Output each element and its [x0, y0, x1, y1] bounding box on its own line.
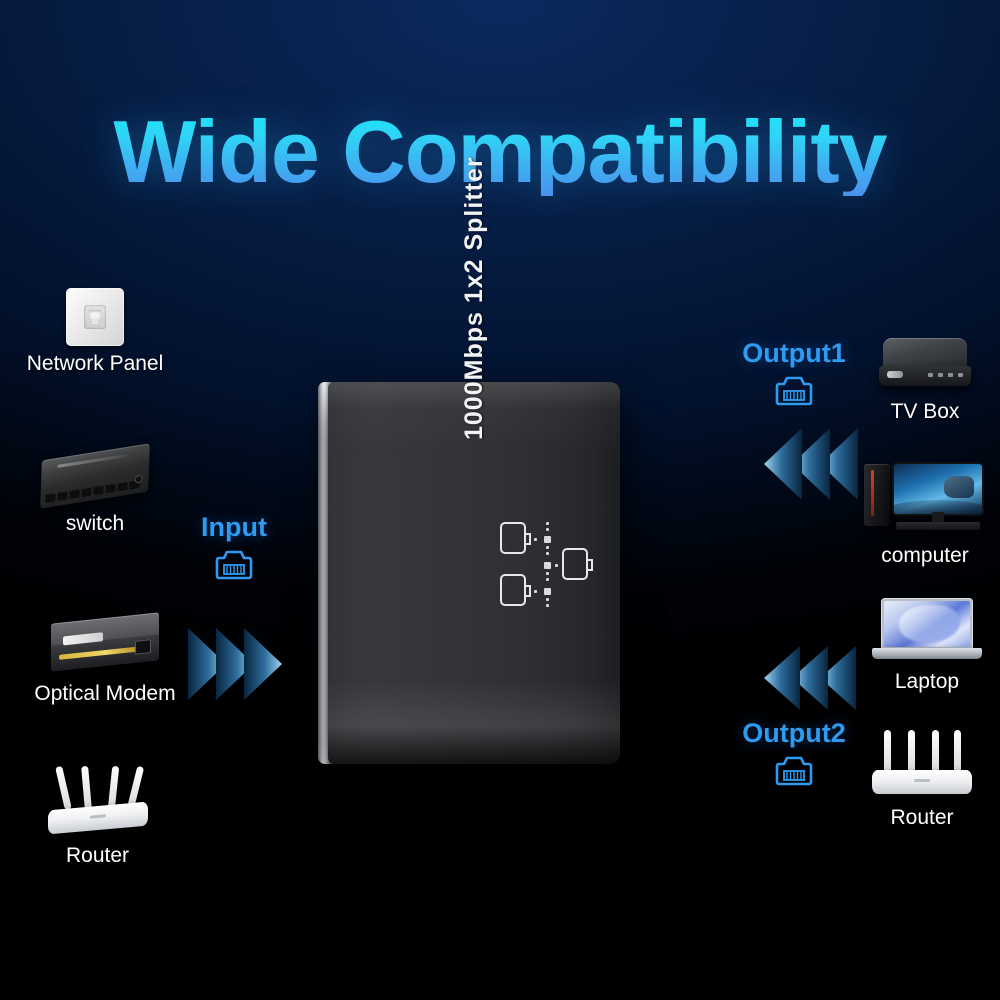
- source-optical-modem: Optical Modem: [20, 618, 190, 706]
- output2-flow-arrows: [748, 638, 858, 718]
- panel-jack-tab: [92, 318, 98, 324]
- input-flow-arrows: [186, 618, 296, 710]
- wifi-router-icon: [38, 758, 158, 834]
- device-body: 1000Mbps 1x2 Splitter: [328, 382, 620, 764]
- desktop-computer-icon: [864, 462, 986, 538]
- network-wall-panel-icon: [66, 288, 124, 346]
- router-antenna: [81, 766, 92, 810]
- rj45-port-icon: [214, 547, 254, 583]
- destination-label-router: Router: [857, 806, 987, 830]
- panel-jack: [84, 305, 106, 329]
- router-antenna: [55, 766, 72, 810]
- source-label-network-panel: Network Panel: [20, 352, 170, 376]
- computer-monitor: [894, 464, 982, 514]
- source-router: Router: [15, 758, 180, 868]
- computer-tower: [864, 464, 890, 526]
- topology-junction: [544, 588, 551, 595]
- laptop-lid: [881, 598, 973, 650]
- output1-flow-arrows: [750, 418, 860, 510]
- network-topology-1-to-2-icon: [500, 522, 600, 622]
- switch-power-jack: [135, 474, 143, 483]
- rj45-port-icon: [774, 373, 814, 409]
- router-body: [872, 770, 972, 794]
- router-body: [48, 802, 148, 835]
- source-label-optical-modem: Optical Modem: [20, 682, 190, 706]
- destination-laptop: Laptop: [862, 598, 992, 694]
- topology-junction: [544, 562, 551, 569]
- tv-box-logo: [887, 371, 903, 378]
- rj45-port-icon: [774, 753, 814, 789]
- destination-label-tv-box: TV Box: [860, 400, 990, 424]
- output2-label-text: Output2: [726, 718, 862, 749]
- destination-tv-box: TV Box: [860, 338, 990, 424]
- device-model-label: 1000Mbps 1x2 Splitter: [460, 170, 489, 440]
- optical-modem-icon: [51, 612, 159, 673]
- laptop-screen: [884, 601, 970, 647]
- destination-label-computer: computer: [855, 544, 995, 568]
- infographic-canvas: Wide Compatibility Network Panel switch: [0, 0, 1000, 1000]
- tv-box-icon: [877, 338, 973, 392]
- source-label-switch: switch: [20, 512, 170, 536]
- topology-node: [500, 522, 526, 554]
- computer-keyboard: [896, 522, 980, 530]
- page-title: Wide Compatibility: [0, 108, 1000, 196]
- modem-port: [135, 639, 151, 655]
- tv-box-leds: [928, 373, 963, 377]
- output1-label-text: Output1: [728, 338, 860, 369]
- wifi-router-icon: [862, 722, 982, 798]
- topology-node: [562, 548, 588, 580]
- ethernet-splitter-device: 1000Mbps 1x2 Splitter: [318, 382, 620, 764]
- source-switch: switch: [20, 452, 170, 536]
- output2-port-label: Output2: [726, 718, 862, 789]
- monitor-stand: [932, 512, 944, 522]
- input-label-text: Input: [170, 512, 298, 543]
- source-network-panel: Network Panel: [20, 288, 170, 376]
- switch-ports: [45, 479, 139, 503]
- destination-router: Router: [857, 722, 987, 830]
- destination-label-laptop: Laptop: [862, 670, 992, 694]
- laptop-icon: [872, 598, 982, 668]
- router-led: [914, 779, 930, 782]
- switch-top-stripe: [57, 454, 127, 468]
- topology-junction: [544, 536, 551, 543]
- source-label-router: Router: [15, 844, 180, 868]
- topology-node: [500, 574, 526, 606]
- router-led: [90, 814, 106, 818]
- laptop-keyboard-deck: [872, 648, 982, 659]
- network-switch-icon: [40, 443, 150, 508]
- output1-port-label: Output1: [728, 338, 860, 409]
- destination-computer: computer: [855, 462, 995, 568]
- input-port-label: Input: [170, 512, 298, 583]
